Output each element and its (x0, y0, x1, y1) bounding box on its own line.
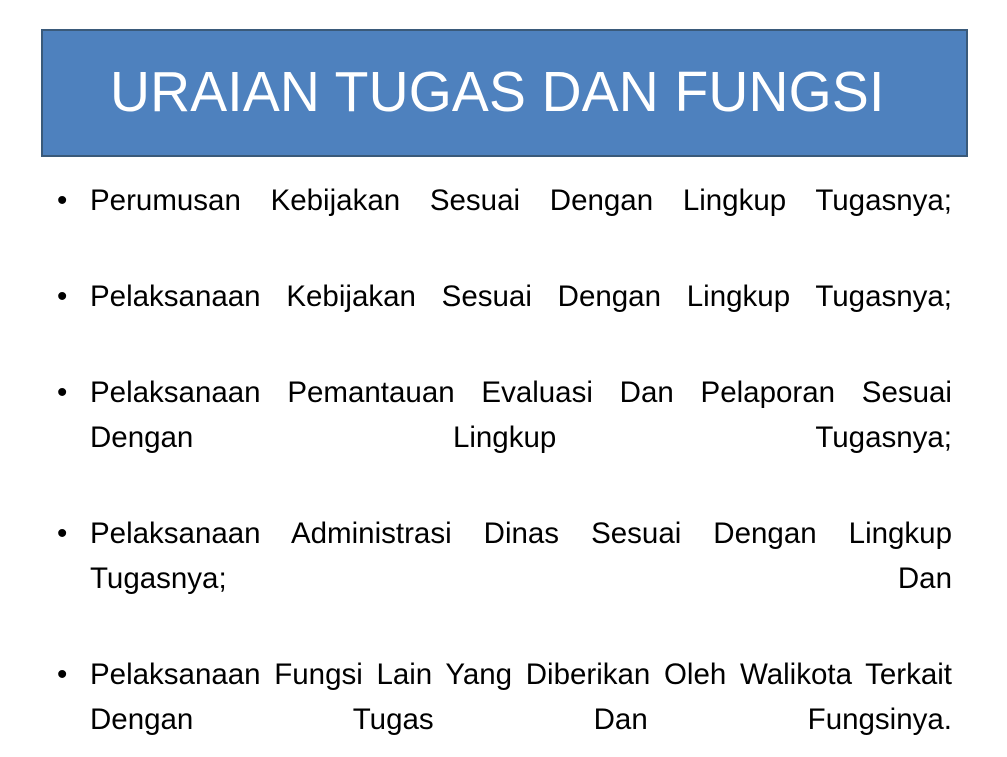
list-item-label: Pelaksanaan Kebijakan Sesuai Dengan Ling… (90, 274, 952, 364)
bullet-point-icon: • (57, 274, 77, 319)
bullet-point-icon: • (57, 370, 77, 415)
list-item-label: Pelaksanaan Pemantauan Evaluasi Dan Pela… (90, 370, 952, 505)
list-item: • Pelaksanaan Administrasi Dinas Sesuai … (41, 511, 966, 646)
list-item-label: Pelaksanaan Administrasi Dinas Sesuai De… (90, 511, 952, 646)
list-item-label: Perumusan Kebijakan Sesuai Dengan Lingku… (90, 178, 952, 268)
slide-canvas: URAIAN TUGAS DAN FUNGSI • Perumusan Kebi… (0, 0, 1007, 757)
list-item: • Pelaksanaan Kebijakan Sesuai Dengan Li… (41, 274, 966, 364)
list-item-label: Pelaksanaan Fungsi Lain Yang Diberikan O… (90, 652, 952, 757)
bullet-list: • Perumusan Kebijakan Sesuai Dengan Ling… (41, 178, 966, 757)
bullet-point-icon: • (57, 511, 77, 556)
title-banner: URAIAN TUGAS DAN FUNGSI (41, 29, 968, 157)
list-item: • Perumusan Kebijakan Sesuai Dengan Ling… (41, 178, 966, 268)
bullet-point-icon: • (57, 178, 77, 223)
list-item: • Pelaksanaan Fungsi Lain Yang Diberikan… (41, 652, 966, 757)
bullet-point-icon: • (57, 652, 77, 697)
page-title: URAIAN TUGAS DAN FUNGSI (110, 63, 885, 123)
list-item: • Pelaksanaan Pemantauan Evaluasi Dan Pe… (41, 370, 966, 505)
